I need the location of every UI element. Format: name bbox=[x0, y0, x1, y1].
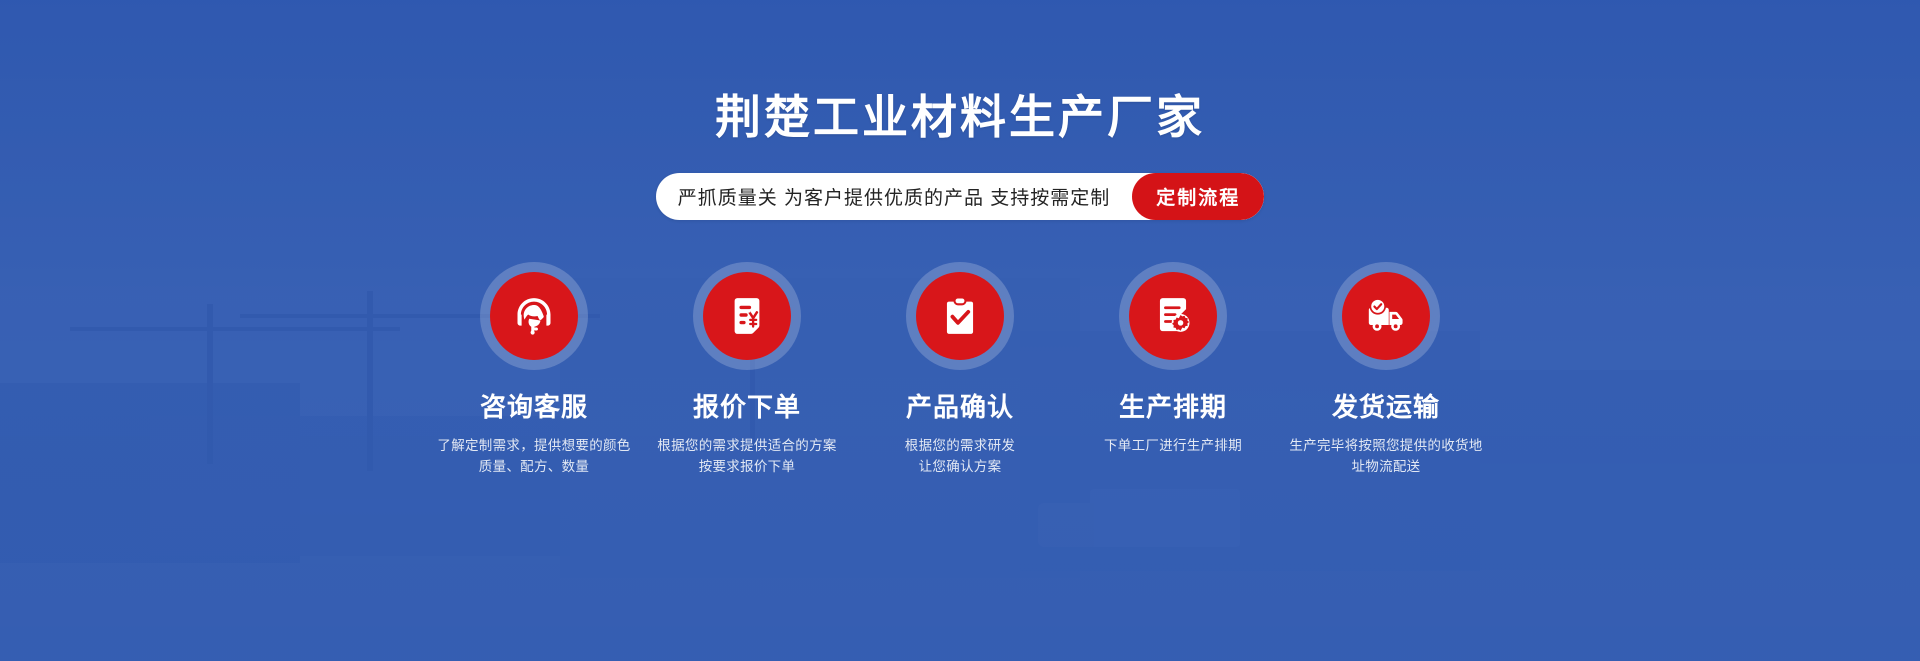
step-description: 下单工厂进行生产排期 bbox=[1104, 436, 1242, 457]
icon-ring bbox=[1332, 262, 1440, 370]
icon-disc bbox=[490, 272, 578, 360]
step-desc-line: 了解定制需求，提供想要的颜色 bbox=[437, 436, 630, 457]
process-step-consult[interactable]: 咨询客服 了解定制需求，提供想要的颜色 质量、配方、数量 bbox=[428, 262, 641, 478]
custom-process-button[interactable]: 定制流程 bbox=[1132, 173, 1264, 220]
process-step-confirm[interactable]: 产品确认 根据您的需求研发 让您确认方案 bbox=[854, 262, 1067, 478]
step-desc-line: 址物流配送 bbox=[1289, 457, 1482, 478]
icon-disc bbox=[703, 272, 791, 360]
banner-content: 荆楚工业材料生产厂家 严抓质量关 为客户提供优质的产品 支持按需定制 定制流程 bbox=[0, 0, 1920, 661]
banner-headline: 荆楚工业材料生产厂家 bbox=[715, 92, 1205, 143]
process-step-schedule[interactable]: 生产排期 下单工厂进行生产排期 bbox=[1067, 262, 1280, 457]
icon-ring bbox=[693, 262, 801, 370]
invoice-yuan-icon bbox=[725, 294, 769, 338]
icon-disc bbox=[1129, 272, 1217, 360]
delivery-truck-check-icon bbox=[1364, 294, 1408, 338]
clipboard-check-icon bbox=[938, 294, 982, 338]
slogan-text: 严抓质量关 为客户提供优质的产品 支持按需定制 bbox=[678, 183, 1133, 210]
step-desc-line: 让您确认方案 bbox=[905, 457, 1015, 478]
icon-disc bbox=[916, 272, 1004, 360]
step-desc-line: 质量、配方、数量 bbox=[437, 457, 630, 478]
step-description: 生产完毕将按照您提供的收货地 址物流配送 bbox=[1289, 436, 1482, 478]
step-description: 根据您的需求研发 让您确认方案 bbox=[905, 436, 1015, 478]
icon-disc bbox=[1342, 272, 1430, 360]
document-gear-icon bbox=[1151, 294, 1195, 338]
step-desc-line: 根据您的需求提供适合的方案 bbox=[657, 436, 836, 457]
icon-ring bbox=[480, 262, 588, 370]
step-description: 了解定制需求，提供想要的颜色 质量、配方、数量 bbox=[437, 436, 630, 478]
step-title: 发货运输 bbox=[1332, 392, 1440, 423]
process-step-quote[interactable]: 报价下单 根据您的需求提供适合的方案 按要求报价下单 bbox=[641, 262, 854, 478]
step-desc-line: 下单工厂进行生产排期 bbox=[1104, 436, 1242, 457]
slogan-pill: 严抓质量关 为客户提供优质的产品 支持按需定制 定制流程 bbox=[656, 173, 1265, 220]
step-title: 咨询客服 bbox=[480, 392, 588, 423]
icon-ring bbox=[906, 262, 1014, 370]
step-desc-line: 生产完毕将按照您提供的收货地 bbox=[1289, 436, 1482, 457]
process-step-delivery[interactable]: 发货运输 生产完毕将按照您提供的收货地 址物流配送 bbox=[1280, 262, 1493, 478]
icon-ring bbox=[1119, 262, 1227, 370]
step-title: 生产排期 bbox=[1119, 392, 1227, 423]
step-title: 报价下单 bbox=[693, 392, 801, 423]
step-description: 根据您的需求提供适合的方案 按要求报价下单 bbox=[657, 436, 836, 478]
headset-support-icon bbox=[512, 294, 556, 338]
step-title: 产品确认 bbox=[906, 392, 1014, 423]
promo-banner: 荆楚工业材料生产厂家 严抓质量关 为客户提供优质的产品 支持按需定制 定制流程 bbox=[0, 0, 1920, 661]
step-desc-line: 根据您的需求研发 bbox=[905, 436, 1015, 457]
process-steps: 咨询客服 了解定制需求，提供想要的颜色 质量、配方、数量 bbox=[428, 262, 1493, 478]
step-desc-line: 按要求报价下单 bbox=[657, 457, 836, 478]
